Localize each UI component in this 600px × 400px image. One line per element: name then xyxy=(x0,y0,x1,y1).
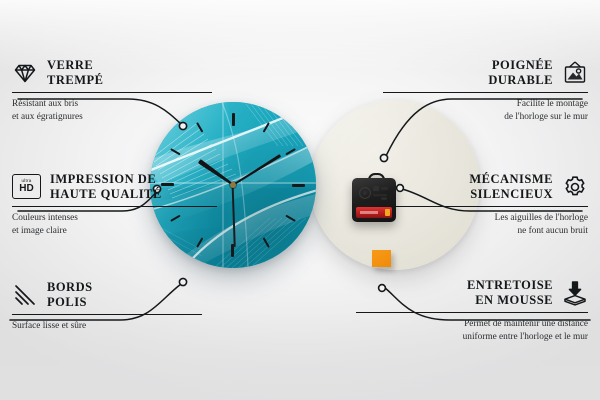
feature-divider xyxy=(12,206,217,208)
feature-header: ENTRETOISE EN MOUSSE xyxy=(356,278,588,308)
foam-spacer xyxy=(372,250,391,267)
ultra-hd-large-text: HD xyxy=(19,184,33,194)
feature-title-line2: HAUTE QUALITÉ xyxy=(50,187,162,202)
foam-spacer-icon xyxy=(562,280,588,306)
feature-description: Les aiguilles de l'horloge ne font aucun… xyxy=(378,212,588,237)
picture-hanger-icon xyxy=(562,60,588,86)
feature-title: IMPRESSION DE HAUTE QUALITÉ xyxy=(50,172,162,202)
feature-title: MÉCANISME SILENCIEUX xyxy=(469,172,553,202)
feature-impression-haute-qualite[interactable]: ultra HD IMPRESSION DE HAUTE QUALITÉ Cou… xyxy=(12,172,217,237)
feature-description: Résistant aux bris et aux égratignures xyxy=(12,98,212,123)
hour-tick-12 xyxy=(232,113,234,185)
feature-divider xyxy=(383,92,588,94)
feature-title-line2: TREMPÉ xyxy=(47,73,103,88)
diamond-icon xyxy=(12,60,38,86)
feature-desc-line1: Les aiguilles de l'horloge xyxy=(378,212,588,224)
feature-title-line1: ENTRETOISE xyxy=(467,278,553,293)
feature-title-line1: IMPRESSION DE xyxy=(50,172,162,187)
infographic-canvas: VERRE TREMPÉ Résistant aux bris et aux é… xyxy=(0,0,600,400)
feature-header: MÉCANISME SILENCIEUX xyxy=(378,172,588,202)
feature-title: POIGNÉE DURABLE xyxy=(488,58,553,88)
feature-header: BORDS POLIS xyxy=(12,280,202,310)
feature-description: Couleurs intenses et image claire xyxy=(12,212,217,237)
feature-title-line2: POLIS xyxy=(47,295,93,310)
feature-divider xyxy=(378,206,588,208)
feature-title: ENTRETOISE EN MOUSSE xyxy=(467,278,553,308)
feature-desc-line1: Couleurs intenses xyxy=(12,212,217,224)
feature-header: POIGNÉE DURABLE xyxy=(383,58,588,88)
feature-desc-line1: Résistant aux bris xyxy=(12,98,212,110)
feature-desc-line1: Facilite le montage xyxy=(383,98,588,110)
feature-description: Permet de maintenir une distance uniform… xyxy=(356,318,588,343)
feature-desc-line1: Permet de maintenir une distance xyxy=(356,318,588,330)
feature-title-line2: EN MOUSSE xyxy=(467,293,553,308)
ultra-hd-icon: ultra HD xyxy=(12,174,41,199)
feature-verre-trempe[interactable]: VERRE TREMPÉ Résistant aux bris et aux é… xyxy=(12,58,212,123)
gear-icon xyxy=(562,174,588,200)
feature-title-line2: DURABLE xyxy=(488,73,553,88)
feature-divider xyxy=(12,92,212,94)
feature-entretoise-en-mousse[interactable]: ENTRETOISE EN MOUSSE Permet de maintenir… xyxy=(356,278,588,343)
feature-header: VERRE TREMPÉ xyxy=(12,58,212,88)
feature-description: Facilite le montage de l'horloge sur le … xyxy=(383,98,588,123)
feature-bords-polis[interactable]: BORDS POLIS Surface lisse et sûre xyxy=(12,280,202,333)
feature-desc-line2: et aux égratignures xyxy=(12,111,212,123)
polished-edge-icon xyxy=(12,282,38,308)
feature-title: VERRE TREMPÉ xyxy=(47,58,103,88)
feature-divider xyxy=(12,314,202,316)
feature-mecanisme-silencieux[interactable]: MÉCANISME SILENCIEUX Les aiguilles de l'… xyxy=(378,172,588,237)
feature-title-line1: POIGNÉE xyxy=(488,58,553,73)
feature-desc-line2: uniforme entre l'horloge et le mur xyxy=(356,331,588,343)
feature-title-line1: MÉCANISME xyxy=(469,172,553,187)
feature-title-line1: BORDS xyxy=(47,280,93,295)
feature-title-line2: SILENCIEUX xyxy=(469,187,553,202)
feature-desc-line2: et image claire xyxy=(12,225,217,237)
feature-desc-line1: Surface lisse et sûre xyxy=(12,320,202,332)
feature-title-line1: VERRE xyxy=(47,58,103,73)
feature-desc-line2: ne font aucun bruit xyxy=(378,225,588,237)
feature-header: ultra HD IMPRESSION DE HAUTE QUALITÉ xyxy=(12,172,217,202)
feature-title: BORDS POLIS xyxy=(47,280,93,310)
clock-hub xyxy=(230,182,236,188)
hour-tick-3 xyxy=(233,184,305,186)
feature-description: Surface lisse et sûre xyxy=(12,320,202,332)
feature-poignee-durable[interactable]: POIGNÉE DURABLE Facilite le montage de l… xyxy=(383,58,588,123)
feature-desc-line2: de l'horloge sur le mur xyxy=(383,111,588,123)
feature-divider xyxy=(356,312,588,314)
